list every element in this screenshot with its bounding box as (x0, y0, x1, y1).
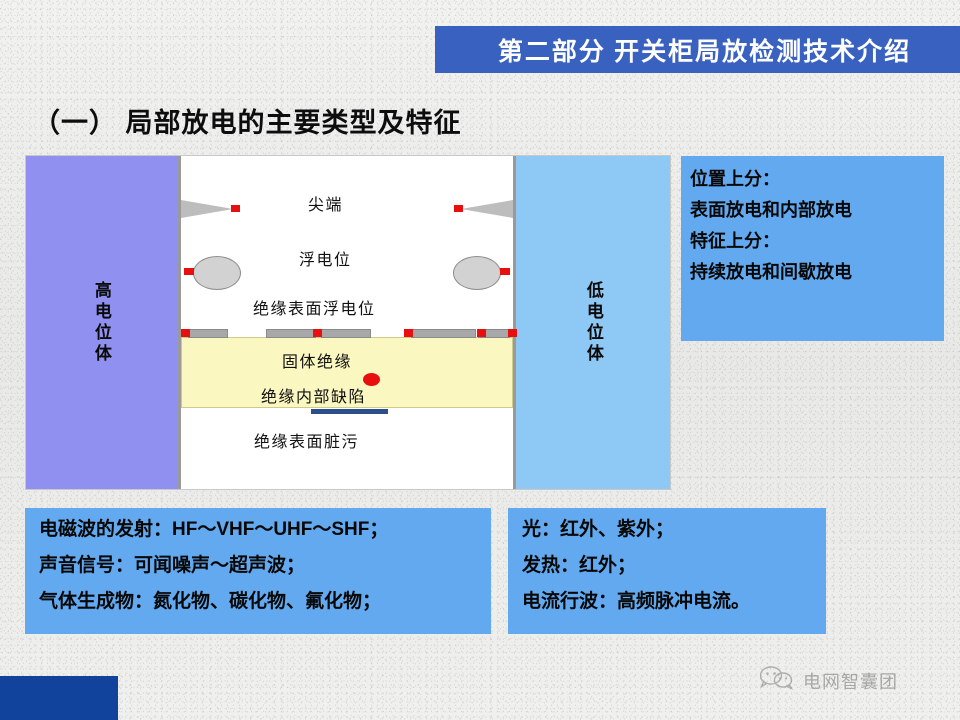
wechat-icon (760, 666, 794, 695)
label-tip: 尖端 (308, 191, 343, 215)
discharge-marker-pad (404, 329, 413, 337)
label-solid-insulation: 固体绝缘 (282, 348, 352, 372)
signal-characteristics-line: 电磁波的发射：HF～VHF～UHF～SHF； (39, 520, 483, 539)
floating-particle-left-icon (193, 256, 241, 290)
optical-thermal-line: 电流行波：高频脉冲电流。 (522, 592, 818, 611)
header-title: 第二部分 开关柜局放检测技术介绍 (498, 32, 911, 68)
discharge-marker-ellipse-left (184, 268, 194, 275)
needle-tip-left-icon (181, 200, 233, 218)
low-potential-electrode-label: 低电位体 (584, 281, 602, 365)
classification-line: 持续放电和间歇放电 (690, 263, 934, 281)
label-surface-floating-potential: 绝缘表面浮电位 (253, 295, 376, 319)
header-banner: 第二部分 开关柜局放检测技术介绍 (435, 26, 960, 73)
needle-tip-right-icon (461, 200, 513, 218)
optical-thermal-characteristics-box: 光：红外、紫外； 发热：红外； 电流行波：高频脉冲电流。 (508, 508, 826, 634)
watermark: 电网智囊团 (760, 666, 898, 695)
classification-line: 特征上分： (690, 232, 934, 250)
signal-characteristics-line: 气体生成物：氮化物、碳化物、氟化物； (39, 592, 483, 611)
discharge-marker-needle-left (231, 205, 240, 212)
optical-thermal-line: 光：红外、紫外； (522, 520, 818, 539)
low-potential-electrode: 低电位体 (513, 156, 670, 489)
slide-canvas: 第二部分 开关柜局放检测技术介绍 （一） 局部放电的主要类型及特征 高电位体 低… (0, 0, 960, 720)
surface-pad (188, 329, 228, 338)
label-surface-contamination: 绝缘表面脏污 (254, 428, 359, 452)
floating-particle-right-icon (453, 256, 501, 290)
signal-characteristics-line: 声音信号：可闻噪声～超声波； (39, 556, 483, 575)
discharge-marker-pad (181, 329, 190, 337)
label-floating-potential: 浮电位 (299, 246, 352, 270)
discharge-marker-pad (508, 329, 517, 337)
classification-line: 表面放电和内部放电 (690, 201, 934, 219)
classification-line: 位置上分： (690, 170, 934, 188)
discharge-marker-pad (313, 329, 322, 337)
surface-pad (411, 329, 476, 338)
classification-panel: 位置上分： 表面放电和内部放电 特征上分： 持续放电和间歇放电 (681, 156, 944, 341)
surface-pad (321, 329, 371, 338)
watermark-label: 电网智囊团 (803, 668, 898, 694)
high-potential-electrode: 高电位体 (26, 156, 181, 489)
signal-characteristics-box: 电磁波的发射：HF～VHF～UHF～SHF； 声音信号：可闻噪声～超声波； 气体… (25, 508, 491, 634)
optical-thermal-line: 发热：红外； (522, 556, 818, 575)
discharge-marker-ellipse-right (500, 268, 510, 275)
page-title: （一） 局部放电的主要类型及特征 (33, 101, 462, 140)
footer-accent-bar (0, 676, 118, 720)
partial-discharge-diagram: 高电位体 低电位体 尖端 浮电位 绝缘表面浮电位 固体绝缘 绝缘内部缺陷 绝缘表… (25, 155, 671, 490)
surface-contamination-bar (311, 409, 388, 414)
high-potential-electrode-label: 高电位体 (92, 281, 110, 365)
discharge-marker-pad (477, 329, 486, 337)
discharge-marker-needle-right (454, 205, 463, 212)
surface-pad (266, 329, 316, 338)
label-internal-defect: 绝缘内部缺陷 (261, 383, 366, 407)
